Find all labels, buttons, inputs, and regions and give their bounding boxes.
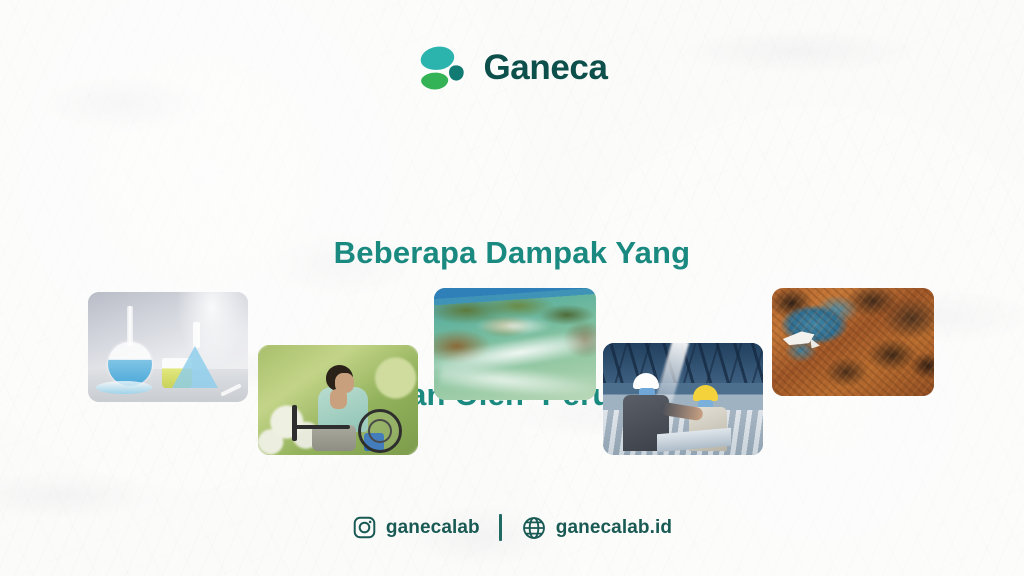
coastal-algae-water-image [434,288,596,400]
slide-canvas: Ganeca Beberapa Dampak Yang Disebabkan O… [0,0,1024,576]
worker-yellow-helmet [693,385,718,401]
globe-icon [521,515,547,541]
sea-foam-lower [440,362,596,400]
footer: ganecalab ganecalab.id [0,514,1024,541]
wheelchair-frame [292,405,297,441]
sea-foam-upper [476,317,551,335]
florence-flask-neck [127,306,133,346]
instagram-icon [352,515,377,540]
lab-glassware-photo [88,292,248,402]
rusted-metal-image [772,288,934,396]
lab-glassware-image [88,292,248,402]
erlenmeyer-flask [172,346,218,388]
website-url-label: ganecalab.id [556,518,672,537]
instagram-handle-label: ganecalab [386,518,480,537]
petri-dish [96,381,152,394]
factory-workers-photo [603,343,763,455]
patient-hand [330,389,347,409]
photo-gallery [0,0,1024,576]
footer-divider [499,514,502,541]
patient-wheelchair-image [258,345,418,455]
erlenmeyer-neck [193,322,200,348]
wheelchair-hub [368,419,392,443]
factory-workers-image [603,343,763,455]
coastal-algae-water-photo [434,288,596,400]
wheelchair-armrest [292,425,350,429]
florence-flask [108,342,152,386]
instagram-handle[interactable]: ganecalab [352,515,480,540]
patient-wheelchair-photo [258,345,418,455]
website-link[interactable]: ganecalab.id [521,515,672,541]
rusted-metal-photo [772,288,934,396]
